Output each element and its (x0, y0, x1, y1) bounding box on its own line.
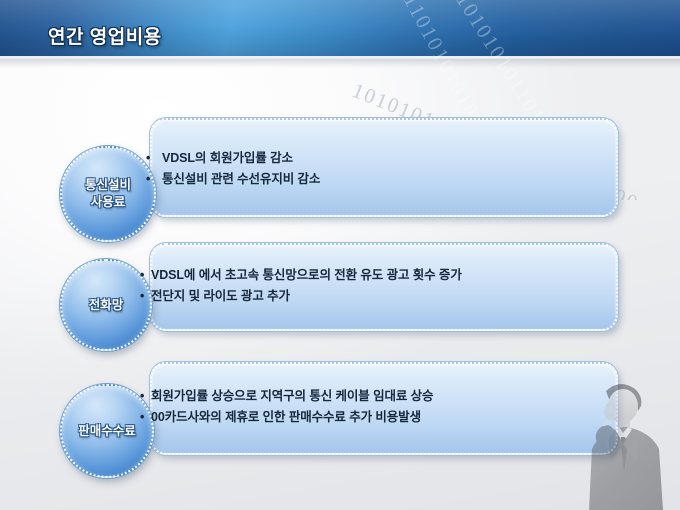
bullet-list-2: •VDSL에 에서 초고속 통신망으로의 전환 유도 광고 횟수 증가 •전단지… (140, 265, 606, 307)
bullet-glyph: • (140, 386, 151, 407)
list-item-text: 00카드사와의 제휴로 인한 판매수수료 추가 비용발생 (151, 410, 421, 424)
bullet-list-3: •회원가입률 상승으로 지역구의 통신 케이블 임대료 상승 •00카드사와의 … (140, 386, 606, 428)
list-item: •00카드사와의 제휴로 인한 판매수수료 추가 비용발생 (140, 407, 606, 428)
list-item: •전단지 및 라이도 광고 추가 (140, 286, 606, 307)
category-badge-3-label: 판매수수료 (78, 423, 136, 440)
bullet-glyph: • (146, 148, 162, 169)
list-item-text: 전단지 및 라이도 광고 추가 (151, 289, 290, 303)
bullet-glyph: • (146, 169, 162, 190)
list-item-text: 통신설비 관련 수선유지비 감소 (162, 172, 320, 186)
list-item: •VDSL에 에서 초고속 통신망으로의 전환 유도 광고 횟수 증가 (140, 265, 606, 286)
list-item-text: VDSL의 회원가입률 감소 (162, 151, 293, 165)
bullet-list-1: •VDSL의 회원가입률 감소 •통신설비 관련 수선유지비 감소 (146, 148, 606, 190)
category-badge-2[interactable]: 전화망 (60, 259, 152, 351)
businessman-photo (574, 375, 680, 510)
page-title: 연간 영업비용 (48, 22, 162, 49)
list-item: •통신설비 관련 수선유지비 감소 (146, 169, 606, 190)
category-badge-1[interactable]: 통신설비 사용료 (60, 146, 156, 242)
list-item-text: VDSL에 에서 초고속 통신망으로의 전환 유도 광고 횟수 증가 (151, 268, 462, 282)
category-badge-1-label: 통신설비 사용료 (85, 177, 131, 211)
bullet-glyph: • (140, 265, 151, 286)
list-item-text: 회원가입률 상승으로 지역구의 통신 케이블 임대료 상승 (151, 389, 433, 403)
category-badge-2-label: 전화망 (89, 297, 124, 314)
header-drop-shadow (0, 59, 680, 68)
bullet-glyph: • (140, 407, 151, 428)
bullet-glyph: • (140, 286, 151, 307)
list-item: •회원가입률 상승으로 지역구의 통신 케이블 임대료 상승 (140, 386, 606, 407)
list-item: •VDSL의 회원가입률 감소 (146, 148, 606, 169)
slide-canvas: 1101010101001011100011101011100101000 01… (0, 0, 680, 510)
